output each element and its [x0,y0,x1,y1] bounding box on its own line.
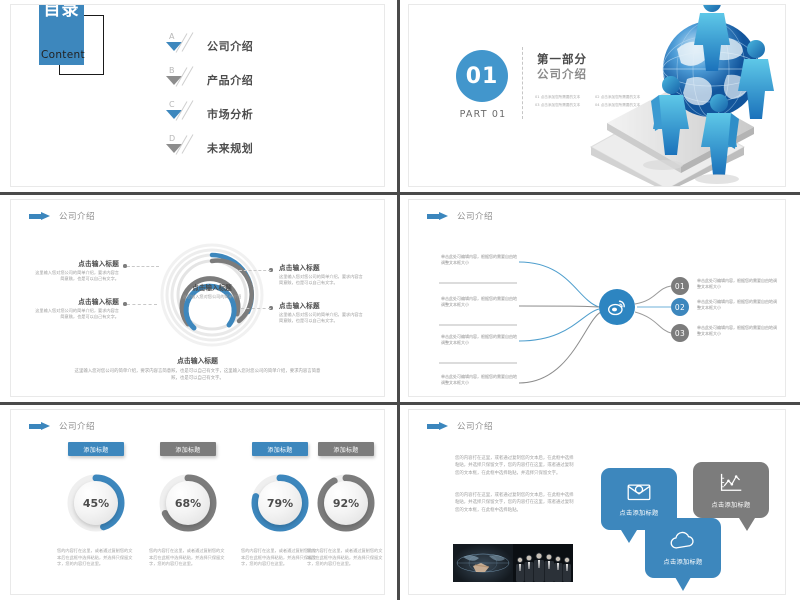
footer-body: 这里输入您对您公司的简单介绍，要求内容言简意赅，也是可以自己有文字，这里输入您对… [71,368,324,382]
triangle-down-icon: B [161,66,207,94]
footer-title: 点击输入标题 [71,355,324,365]
donut-value: 45% [74,481,118,525]
donut-body: 您的内容打在这里，或者通过复制您的文本后在此框中选择粘贴，并选择只保留文字，您的… [307,548,385,568]
connector-dot [123,264,127,268]
callout-title: 点击输入标题 [279,262,363,272]
callout-body: 这里输入您对您公司的简单介绍，要求内容言简意赅，也是可以自己有文字。 [35,270,119,282]
business-team-photo [513,544,573,582]
mindmap-right-item-2[interactable]: 单击此处可编辑内容，根据您的需要自由地调整文本框大小 [697,299,777,312]
mindmap-item-body: 单击此处可编辑内容，根据您的需要自由地调整文本框大小 [441,296,517,309]
mindmap-rule [439,282,517,284]
mindmap-left-item-3[interactable]: 单击此处可编辑内容，根据您的需要自由地调整文本框大小 [441,334,517,347]
arrow-right-icon [427,422,449,431]
callout-title: 点击输入标题 [35,296,119,306]
mindmap-left-item-2[interactable]: 单击此处可编辑内容，根据您的需要自由地调整文本框大小 [441,296,517,309]
callout-right-top[interactable]: 点击输入标题 这里输入您对您公司的简单介绍，要求内容言简意赅，也是可以自己有文字… [279,262,363,286]
callout-title: 点击输入标题 [35,258,119,268]
bubble-tail [675,577,691,591]
toc-item-label: 产品介绍 [207,72,253,88]
toc-letter: C [169,100,175,109]
bubble-2[interactable]: 点击添加标题 [693,462,769,518]
section-bullets: 01 点击添加您所需要的文本 02 点击添加您所需要的文本 03 点击添加您所需… [535,93,655,109]
slide-2-section-cover[interactable]: 01 PART 01 第一部分 公司介绍 01 点击添加您所需要的文本 02 点… [400,0,800,195]
donut-value: 79% [258,481,302,525]
slide-6-callout-bubbles[interactable]: 公司介绍 您的内容打在这里，或者通过复制您的文本后，在此框中选择粘贴，并选择只保… [400,405,800,600]
cloud-icon [669,531,697,550]
slide-header: 公司介绍 [29,210,95,222]
section-bullet: 01 点击添加您所需要的文本 [535,93,595,101]
triangle-down-icon: D [161,134,207,162]
chart-icon [719,472,743,493]
donut-ring: 68% [157,472,219,534]
slide-thumbnail-grid: 目录 Content A 公司介绍 B 产品介绍 [0,0,800,600]
slide-header-label: 公司介绍 [59,210,95,222]
mindmap-center-node[interactable] [599,289,635,325]
mindmap-number-01[interactable]: 01 [671,277,689,295]
mindmap-number: 01 [675,282,685,291]
slide3-footer: 点击输入标题 这里输入您对您公司的简单介绍，要求内容言简意赅，也是可以自己有文字… [71,355,324,382]
mindmap-right-item-3[interactable]: 单击此处可编辑内容，根据您的需要自由地调整文本框大小 [697,325,777,338]
mindmap-number-02[interactable]: 02 [671,298,689,316]
callout-title: 点击输入标题 [279,300,363,310]
mindmap-item-body: 单击此处可编辑内容，根据您的需要自由地调整文本框大小 [697,278,777,291]
callout-left-top[interactable]: 点击输入标题 这里输入您对您公司的简单介绍，要求内容言简意赅，也是可以自己有文字… [35,258,119,282]
slide-4-mindmap[interactable]: 公司介绍 单击此处可编辑内容，根据您的需要自 [400,195,800,405]
mindmap-right-item-1[interactable]: 单击此处可编辑内容，根据您的需要自由地调整文本框大小 [697,278,777,291]
callout-body: 这里输入您对您公司的简单介绍，要求内容言简意赅，也是可以自己有文字。 [35,308,119,320]
toc-letter: D [169,134,175,143]
bubble-tail [621,530,637,543]
donut-card-4[interactable]: 添加标题 92% 您的内容打在这里，或者通过复制您的文本后在此框中选择粘贴，并选… [299,442,385,568]
callout-body: 这里输入您对您公司的简单介绍，要求内容言简意赅，也是可以自己有文字。 [279,274,363,286]
vertical-divider [522,47,523,119]
toc-letter: A [169,32,174,41]
handshake-over-world-map-photo [453,544,513,582]
bubble-3[interactable]: 点击添加标题 [645,518,721,578]
triangle-down-icon: A [161,32,207,60]
toc-item-a[interactable]: A 公司介绍 [161,31,253,61]
ring-chart: 点击输入标题 这里输入您对您公司的简单介绍 [159,242,265,348]
donut-tag[interactable]: 添加标题 [318,442,374,456]
connector-dot [123,302,127,306]
ring-center-body: 这里输入您对您公司的简单介绍 [159,294,265,300]
toc-item-label: 公司介绍 [207,38,253,54]
section-title-line1: 第一部分 [537,51,587,67]
donut-card-1[interactable]: 添加标题 45% 您的内容打在这里，或者通过复制您的文本后在此框中选择粘贴，并选… [49,442,143,568]
donut-body: 您的内容打在这里，或者通过复制您的文本后在此框中选择粘贴，并选择只保留文字，您的… [149,548,227,568]
section-number-badge: 01 [456,50,508,102]
donut-ring: 92% [315,472,377,534]
bubble-label: 点击添加标题 [620,508,659,517]
section-part-label: PART 01 [457,109,509,120]
toc-list: A 公司介绍 B 产品介绍 C [161,31,253,167]
callout-left-bottom[interactable]: 点击输入标题 这里输入您对您公司的简单介绍，要求内容言简意赅，也是可以自己有文字… [35,296,119,320]
donut-value: 68% [166,481,210,525]
arrow-right-icon [29,212,51,221]
section-bullet: 03 点击添加您所需要的文本 [535,101,595,109]
donut-tag[interactable]: 添加标题 [160,442,216,456]
bubble-label: 点击添加标题 [712,500,751,509]
section-number: 01 [466,64,499,89]
mindmap-item-body: 单击此处可编辑内容，根据您的需要自由地调整文本框大小 [697,325,777,338]
donut-ring: 45% [65,472,127,534]
mindmap-left-item-1[interactable]: 单击此处可编辑内容，根据您的需要自由地调整文本框大小 [441,254,517,267]
slide-header: 公司介绍 [427,420,493,432]
slide-3-ring-diagram[interactable]: 公司介绍 点击输入标题 这里输入您对您公司的简单介绍 [0,195,400,405]
connector-line [241,308,271,309]
envelope-icon [627,482,651,501]
toc-item-d[interactable]: D 未来规划 [161,133,253,163]
donut-value: 92% [324,481,368,525]
slide-1-table-of-contents[interactable]: 目录 Content A 公司介绍 B 产品介绍 [0,0,400,195]
connector-line [127,266,159,267]
mindmap-left-item-4[interactable]: 单击此处可编辑内容，根据您的需要自由地调整文本框大小 [441,374,517,387]
section-bullet: 02 点击添加您所需要的文本 [595,93,655,101]
toc-item-b[interactable]: B 产品介绍 [161,65,253,95]
weibo-icon [607,297,627,317]
bubble-label: 点击添加标题 [664,557,703,566]
donut-card-2[interactable]: 添加标题 68% 您的内容打在这里，或者通过复制您的文本后在此框中选择粘贴，并选… [141,442,235,568]
arrow-right-icon [29,422,51,431]
mindmap-rule [439,362,517,364]
mindmap-item-body: 单击此处可编辑内容，根据您的需要自由地调整文本框大小 [697,299,777,312]
ring-center-title: 点击输入标题 [159,282,265,292]
triangle-down-icon: C [161,100,207,128]
mindmap-number: 03 [675,329,685,338]
toc-badge-en: Content [41,49,85,61]
mindmap-item-body: 单击此处可编辑内容，根据您的需要自由地调整文本框大小 [441,334,517,347]
toc-item-label: 市场分析 [207,106,253,122]
slide6-paragraph-1: 您的内容打在这里，或者通过复制您的文本后，在此框中选择粘贴，并选择只保留文字，您… [455,455,575,477]
toc-item-label: 未来规划 [207,140,253,156]
section-bullet: 04 点击添加您所需要的文本 [595,101,655,109]
slide6-paragraph-2: 您的内容打在这里，或者通过复制您的文本后，在此框中选择粘贴，并选择只保留文字，您… [455,492,575,514]
ring-center-label: 点击输入标题 这里输入您对您公司的简单介绍 [159,282,265,300]
bubble-tail [739,518,755,531]
mindmap-number: 02 [675,303,685,312]
connector-line [239,270,271,271]
connector-line [127,304,157,305]
slide-5-donut-stats[interactable]: 公司介绍 添加标题 45% 您的内容打在这里，或者通过复制您的文本后在此框中选择… [0,405,400,600]
callout-body: 这里输入您对您公司的简单介绍，要求内容言简意赅，也是可以自己有文字。 [279,312,363,324]
slide-header-label: 公司介绍 [59,420,95,432]
slide-header-label: 公司介绍 [457,420,493,432]
mindmap-rule [439,324,517,326]
mindmap-item-body: 单击此处可编辑内容，根据您的需要自由地调整文本框大小 [441,374,517,387]
donut-tag[interactable]: 添加标题 [68,442,124,456]
toc-letter: B [169,66,175,75]
toc-badge-cn: 目录 [39,4,84,19]
mindmap-number-03[interactable]: 03 [671,324,689,342]
section-title-line2: 公司介绍 [537,66,587,82]
photo-strip [453,544,573,582]
callout-right-bottom[interactable]: 点击输入标题 这里输入您对您公司的简单介绍，要求内容言简意赅，也是可以自己有文字… [279,300,363,324]
slide-header: 公司介绍 [29,420,95,432]
mindmap-item-body: 单击此处可编辑内容，根据您的需要自由地调整文本框大小 [441,254,517,267]
donut-body: 您的内容打在这里，或者通过复制您的文本后在此框中选择粘贴，并选择只保留文字，您的… [57,548,135,568]
toc-item-c[interactable]: C 市场分析 [161,99,253,129]
